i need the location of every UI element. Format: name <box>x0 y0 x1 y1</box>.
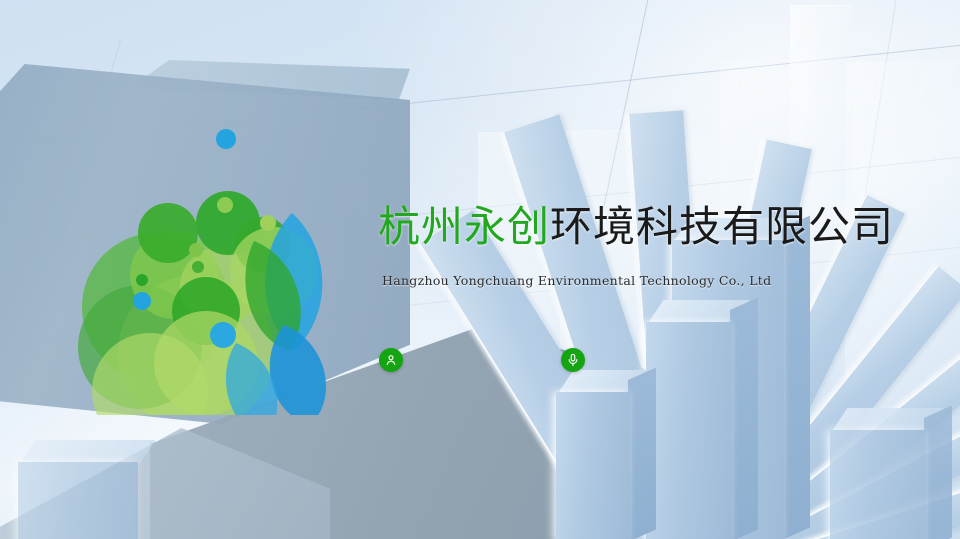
logo-circle-6 <box>138 203 198 263</box>
bar-side-face <box>628 368 656 539</box>
title-block: 杭州永创环境科技有限公司 Hangzhou Yongchuang Environ… <box>378 203 908 288</box>
bar-block-right-short <box>830 430 926 539</box>
bar-block-far-left <box>18 462 138 539</box>
company-logo <box>78 95 348 415</box>
microphone-icon[interactable] <box>561 348 585 372</box>
page-title-highlight: 杭州永创 <box>378 203 550 250</box>
page-subtitle: Hangzhou Yongchuang Environmental Techno… <box>382 273 908 288</box>
bar-side-face <box>924 406 952 539</box>
logo-dot-green-4 <box>136 274 148 286</box>
logo-dot-green-5 <box>192 261 204 273</box>
logo-dot-green-1 <box>217 197 233 213</box>
bar-block-mid <box>646 322 732 539</box>
bar-front-face <box>646 322 732 539</box>
bar-front-face <box>830 430 926 539</box>
page-title-rest: 环境科技有限公司 <box>550 203 894 250</box>
bar-block-low-left <box>556 392 630 539</box>
logo-dot-blue-1 <box>216 129 236 149</box>
logo-leaf-blue-lower <box>270 325 326 415</box>
logo-dot-green-2 <box>260 215 276 231</box>
title-slide: 杭州永创环境科技有限公司 Hangzhou Yongchuang Environ… <box>0 0 960 539</box>
page-title: 杭州永创环境科技有限公司 <box>378 203 908 251</box>
bar-front-face <box>18 462 138 539</box>
logo-dot-green-3 <box>189 243 203 257</box>
user-icon[interactable] <box>379 348 403 372</box>
logo-dot-blue-2 <box>133 292 151 310</box>
bar-front-face <box>556 392 630 539</box>
logo-dot-blue-3 <box>210 322 236 348</box>
bar-side-face <box>730 298 758 539</box>
